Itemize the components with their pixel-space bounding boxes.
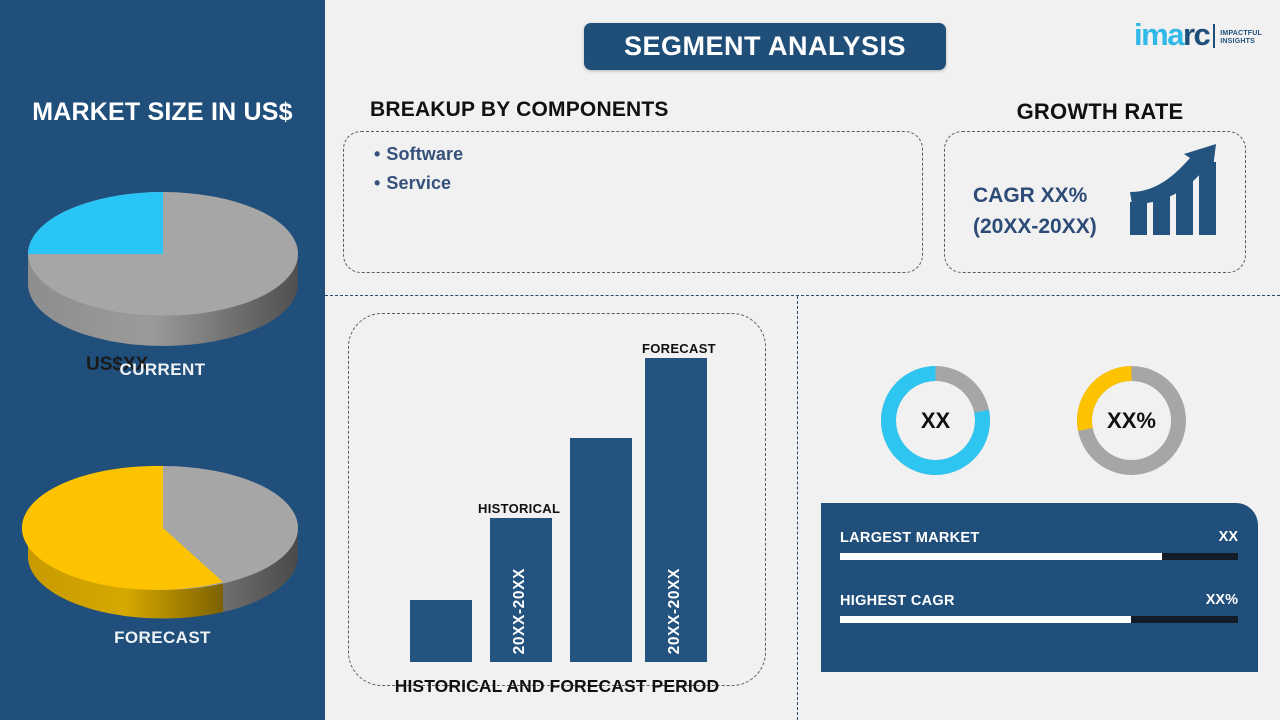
logo-wordmark: imarc bbox=[1134, 19, 1209, 50]
stat-highest-cagr: HIGHEST CAGR XX% bbox=[840, 592, 1238, 623]
bar-2-label: 20XX-20XX bbox=[511, 568, 529, 654]
historical-annotation: HISTORICAL bbox=[478, 501, 560, 516]
components-list: •Software •Service bbox=[374, 140, 463, 198]
forecast-pie-caption: FORECAST bbox=[0, 628, 325, 648]
page-title: SEGMENT ANALYSIS bbox=[624, 31, 906, 62]
logo-tagline-line2: INSIGHTS bbox=[1220, 38, 1262, 47]
stat-label: HIGHEST CAGR bbox=[840, 593, 955, 609]
growth-rate-heading: GROWTH RATE bbox=[942, 99, 1258, 125]
vertical-divider bbox=[797, 296, 798, 720]
forecast-annotation: FORECAST bbox=[642, 341, 716, 356]
forecast-pie-svg bbox=[18, 432, 308, 622]
bar-chart-axis-label: HISTORICAL AND FORECAST PERIOD bbox=[348, 676, 766, 697]
highest-cagr-donut-value: XX% bbox=[1074, 363, 1189, 478]
market-size-title: MARKET SIZE IN US$ bbox=[0, 98, 325, 127]
logo-wordmark-part1: ima bbox=[1134, 17, 1183, 52]
largest-market-donut-value: XX bbox=[878, 363, 993, 478]
market-stats-panel: LARGEST MARKET XX HIGHEST CAGR XX% bbox=[821, 503, 1258, 672]
growth-arrow-chart-icon bbox=[1128, 140, 1224, 245]
bar-4-label: 20XX-20XX bbox=[666, 568, 684, 654]
components-heading: BREAKUP BY COMPONENTS bbox=[370, 98, 669, 122]
list-item: •Software bbox=[374, 140, 463, 169]
stat-progress-track bbox=[840, 553, 1238, 560]
stat-largest-market: LARGEST MARKET XX bbox=[840, 529, 1238, 560]
forecast-pie-chart: US$XX bbox=[18, 432, 308, 622]
largest-market-donut: XX bbox=[878, 363, 993, 478]
component-label: Service bbox=[386, 173, 451, 193]
logo-tagline: IMPACTFUL INSIGHTS bbox=[1220, 30, 1262, 48]
bullet-icon: • bbox=[374, 144, 380, 164]
cagr-period: (20XX-20XX) bbox=[973, 211, 1097, 242]
imarc-logo: imarc IMPACTFUL INSIGHTS bbox=[1134, 12, 1262, 50]
component-label: Software bbox=[386, 144, 463, 164]
list-item: •Service bbox=[374, 169, 463, 198]
logo-tagline-line1: IMPACTFUL bbox=[1220, 30, 1262, 39]
current-pie-chart: US$XX bbox=[18, 158, 308, 348]
current-pie-caption: CURRENT bbox=[0, 360, 325, 380]
stat-progress-track bbox=[840, 616, 1238, 623]
logo-divider bbox=[1213, 24, 1215, 48]
stat-label: LARGEST MARKET bbox=[840, 530, 980, 546]
stat-value: XX bbox=[1219, 529, 1238, 545]
logo-wordmark-part2: rc bbox=[1183, 17, 1209, 52]
bullet-icon: • bbox=[374, 173, 380, 193]
infographic-canvas: MARKET SIZE IN US$ US$XX CURRENT bbox=[0, 0, 1280, 720]
highest-cagr-donut: XX% bbox=[1074, 363, 1189, 478]
growth-rate-text: CAGR XX% (20XX-20XX) bbox=[973, 180, 1097, 242]
stat-value: XX% bbox=[1206, 592, 1238, 608]
stat-progress-fill bbox=[840, 616, 1131, 623]
stat-progress-fill bbox=[840, 553, 1162, 560]
horizontal-divider bbox=[325, 295, 1280, 296]
bar-3 bbox=[570, 438, 632, 662]
page-title-badge: SEGMENT ANALYSIS bbox=[584, 23, 946, 70]
historical-forecast-bar-chart: 20XX-20XX HISTORICAL 20XX-20XX FORECAST bbox=[348, 313, 766, 686]
bar-1 bbox=[410, 600, 472, 662]
current-pie-svg bbox=[18, 158, 308, 348]
cagr-value: CAGR XX% bbox=[973, 180, 1097, 211]
growth-arrow-chart-svg bbox=[1128, 140, 1224, 240]
